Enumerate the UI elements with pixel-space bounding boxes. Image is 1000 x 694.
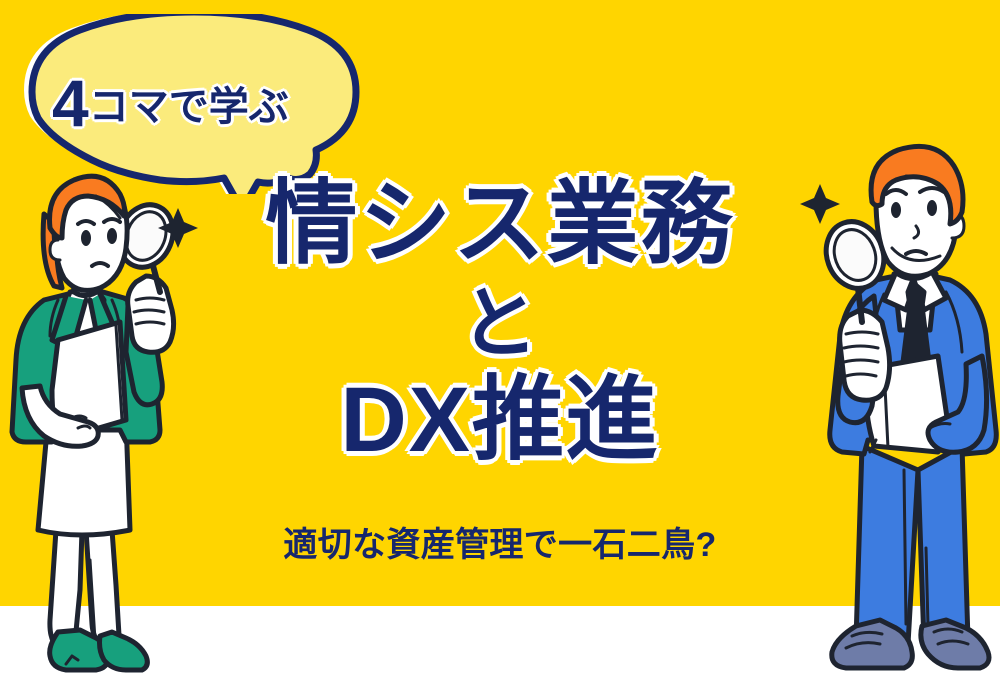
banner-root: 4コマで学ぶ 情シス業務 と DX推進 適切な資産管理で一石二鳥? — [0, 0, 1000, 694]
badge-rest-label: コマで学ぶ — [89, 85, 289, 129]
headline-block: 情シス業務 と DX推進 — [200, 178, 800, 466]
headline-line-3: DX推進 — [200, 374, 800, 466]
headline-line-2: と — [200, 284, 800, 362]
badge-label: 4コマで学ぶ — [52, 70, 342, 136]
badge-number: 4 — [52, 66, 89, 140]
subtitle: 適切な資産管理で一石二鳥? — [200, 528, 800, 562]
badge-speech-bubble: 4コマで学ぶ — [18, 14, 370, 194]
background-white-band — [0, 606, 1000, 694]
headline-line-1: 情シス業務 — [200, 178, 800, 270]
